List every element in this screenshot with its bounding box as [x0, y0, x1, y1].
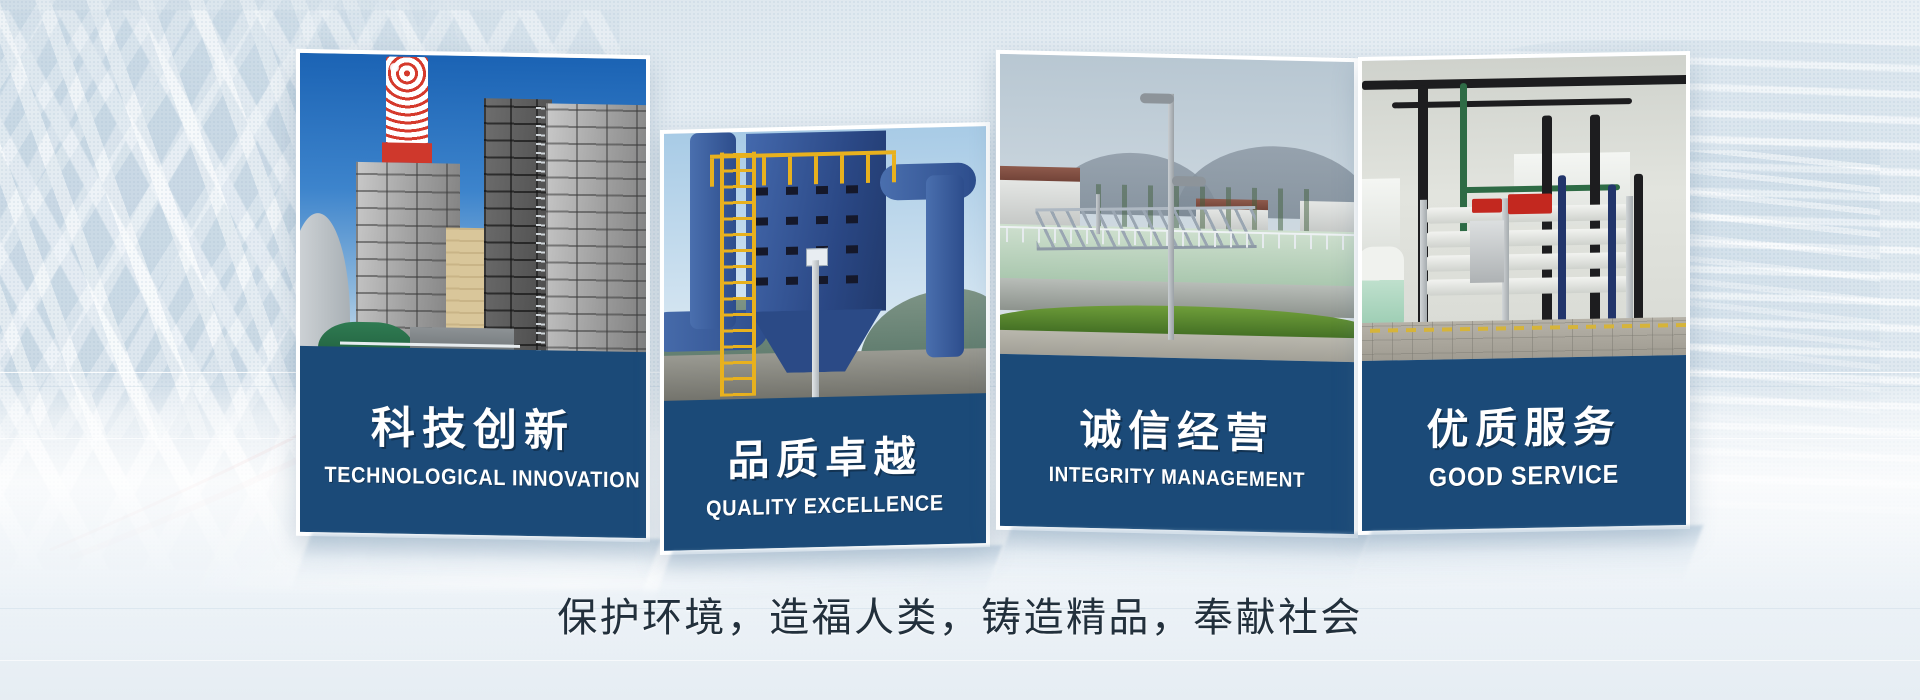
absorber-tower-right: [546, 103, 646, 359]
window-left: [1362, 178, 1400, 249]
scaffold-ladder: [536, 105, 545, 359]
panel-2-caption: 品质卓越 QUALITY EXCELLENCE: [664, 421, 986, 523]
panel-3-caption-band: 诚信经营 INTEGRITY MANAGEMENT: [1000, 354, 1354, 534]
panel-2-title-en: QUALITY EXCELLENCE: [687, 490, 962, 523]
panel-1-caption-band: 科技创新 TECHNOLOGICAL INNOVATION: [300, 346, 646, 538]
warning-sign-2: [1508, 193, 1552, 214]
patterned-chimney: [386, 56, 428, 149]
panel-1-title-cn: 科技创新: [308, 390, 638, 460]
panel-4-caption: 优质服务 GOOD SERVICE: [1362, 392, 1686, 495]
skid-frame-left: [1420, 200, 1427, 340]
panel-2-photo: [664, 126, 986, 406]
panel-4-reflection: [1351, 525, 1703, 587]
black-riser-far: [1634, 174, 1643, 324]
panel-good-service[interactable]: 优质服务 GOOD SERVICE: [1358, 51, 1690, 535]
navy-pipe-1: [1558, 175, 1566, 325]
control-panel: [1470, 220, 1504, 283]
panel-1-photo: [300, 53, 646, 359]
street-lamp-pole: [1168, 94, 1174, 340]
panel-4-caption-band: 优质服务 GOOD SERVICE: [1362, 355, 1686, 531]
panel-4-title-cn: 优质服务: [1370, 392, 1678, 459]
panel-4-title-en: GOOD SERVICE: [1385, 458, 1662, 494]
chemical-dosing-tank: [1362, 246, 1404, 327]
skid-frame-right: [1626, 196, 1633, 336]
panel-integrity-management[interactable]: 诚信经营 INTEGRITY MANAGEMENT: [996, 50, 1358, 539]
access-ladder: [720, 152, 756, 397]
panel-3-title-en: INTEGRITY MANAGEMENT: [1025, 462, 1329, 493]
panel-3-photo: [1000, 54, 1354, 362]
panel-4-photo: [1362, 55, 1686, 361]
outlet-duct-down: [926, 175, 964, 358]
panel-1-title-en: TECHNOLOGICAL INNOVATION: [325, 462, 622, 493]
panel-2-inner: 品质卓越 QUALITY EXCELLENCE: [664, 126, 986, 551]
chimney-red-collar: [382, 142, 432, 163]
panel-3-title-cn: 诚信经营: [1008, 394, 1346, 463]
panel-2-title-cn: 品质卓越: [672, 421, 978, 489]
panel-2-caption-band: 品质卓越 QUALITY EXCELLENCE: [664, 393, 986, 551]
navy-pipe-2: [1608, 184, 1616, 324]
panel-1-caption: 科技创新 TECHNOLOGICAL INNOVATION: [300, 390, 646, 493]
panel-technological-innovation[interactable]: 科技创新 TECHNOLOGICAL INNOVATION: [296, 49, 650, 542]
panel-3-caption: 诚信经营 INTEGRITY MANAGEMENT: [1000, 394, 1354, 494]
warning-sign-1: [1472, 198, 1502, 213]
panel-quality-excellence[interactable]: 品质卓越 QUALITY EXCELLENCE: [660, 122, 990, 555]
street-lamp-pole-2: [1096, 194, 1100, 234]
banner-stage: 科技创新 TECHNOLOGICAL INNOVATION: [0, 0, 1920, 700]
street-lamp-head: [1140, 93, 1174, 104]
panel-3-inner: 诚信经营 INTEGRITY MANAGEMENT: [1000, 54, 1354, 534]
support-column: [812, 260, 819, 400]
panel-1-inner: 科技创新 TECHNOLOGICAL INNOVATION: [300, 53, 646, 538]
street-lamp-head-2: [1172, 176, 1206, 187]
panel-4-inner: 优质服务 GOOD SERVICE: [1362, 55, 1686, 531]
banner-tagline: 保护环境，造福人类，铸造精品，奉献社会: [0, 585, 1920, 643]
